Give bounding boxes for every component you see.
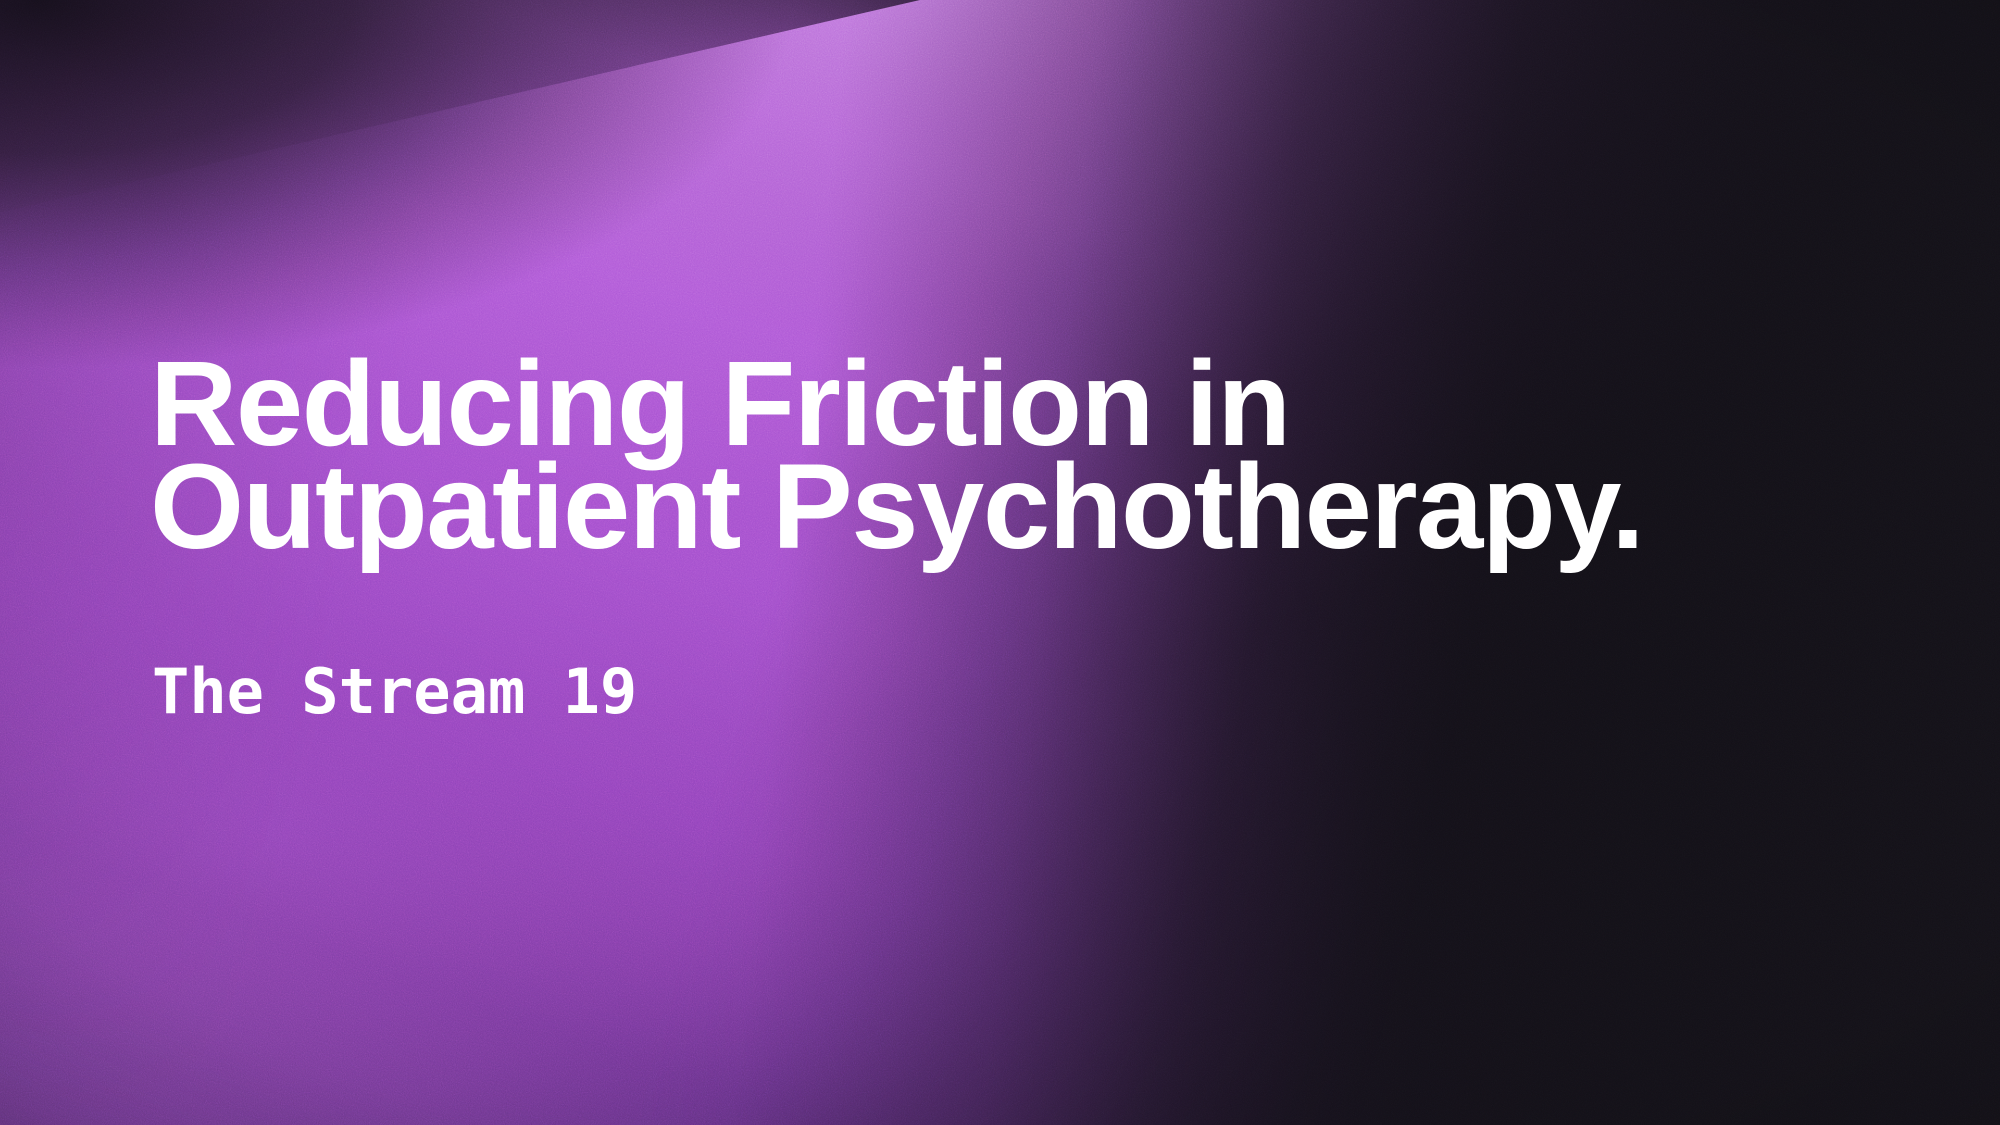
slide-content: Reducing Friction in Outpatient Psychoth… xyxy=(150,0,1950,1125)
slide-headline: Reducing Friction in Outpatient Psychoth… xyxy=(150,352,1940,558)
title-card-slide: Reducing Friction in Outpatient Psychoth… xyxy=(0,0,2000,1125)
slide-subtitle: The Stream 19 xyxy=(152,655,637,729)
